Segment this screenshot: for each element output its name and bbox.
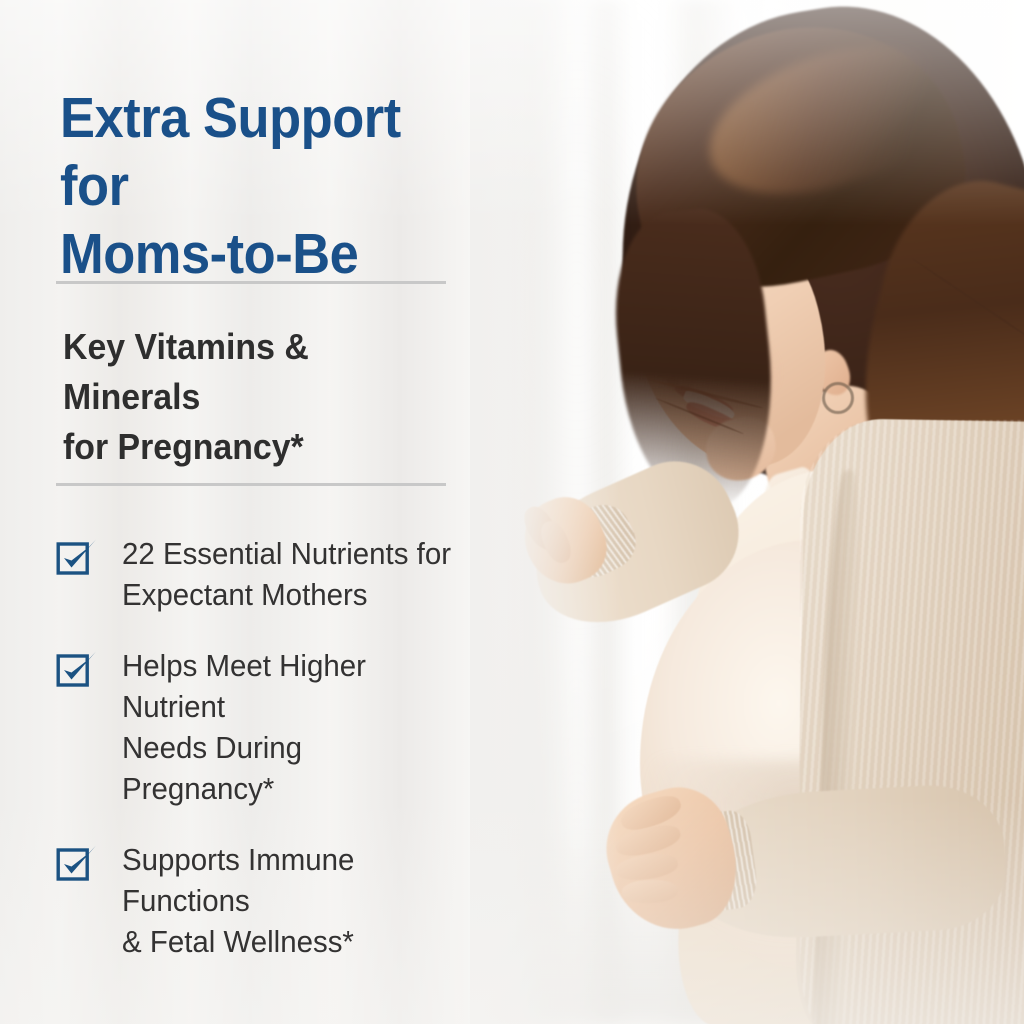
subheadline-line-1: Key Vitamins & Minerals (63, 322, 439, 422)
checkbox-checked-icon (56, 538, 92, 574)
list-item-label: Supports Immune Functions & Fetal Wellne… (122, 839, 458, 962)
checkbox-checked-icon (56, 650, 92, 686)
list-item: Helps Meet Higher Nutrient Needs During … (56, 645, 476, 809)
subheadline-line-2: for Pregnancy* (63, 422, 439, 472)
text-column: Extra Support for Moms-to-Be Key Vitamin… (0, 0, 470, 1024)
headline-line-1: Extra Support for (60, 84, 428, 220)
divider-bottom (56, 483, 446, 486)
benefits-list: 22 Essential Nutrients for Expectant Mot… (56, 533, 476, 962)
list-item: Supports Immune Functions & Fetal Wellne… (56, 839, 476, 962)
list-item: 22 Essential Nutrients for Expectant Mot… (56, 533, 476, 615)
divider-top (56, 281, 446, 284)
checkbox-checked-icon (56, 844, 92, 880)
promo-card: Extra Support for Moms-to-Be Key Vitamin… (0, 0, 1024, 1024)
headline-line-2: Moms-to-Be (60, 220, 428, 288)
list-item-label: 22 Essential Nutrients for Expectant Mot… (122, 533, 451, 615)
headline: Extra Support for Moms-to-Be (60, 84, 428, 288)
subheadline: Key Vitamins & Minerals for Pregnancy* (63, 322, 439, 472)
list-item-label: Helps Meet Higher Nutrient Needs During … (122, 645, 458, 809)
